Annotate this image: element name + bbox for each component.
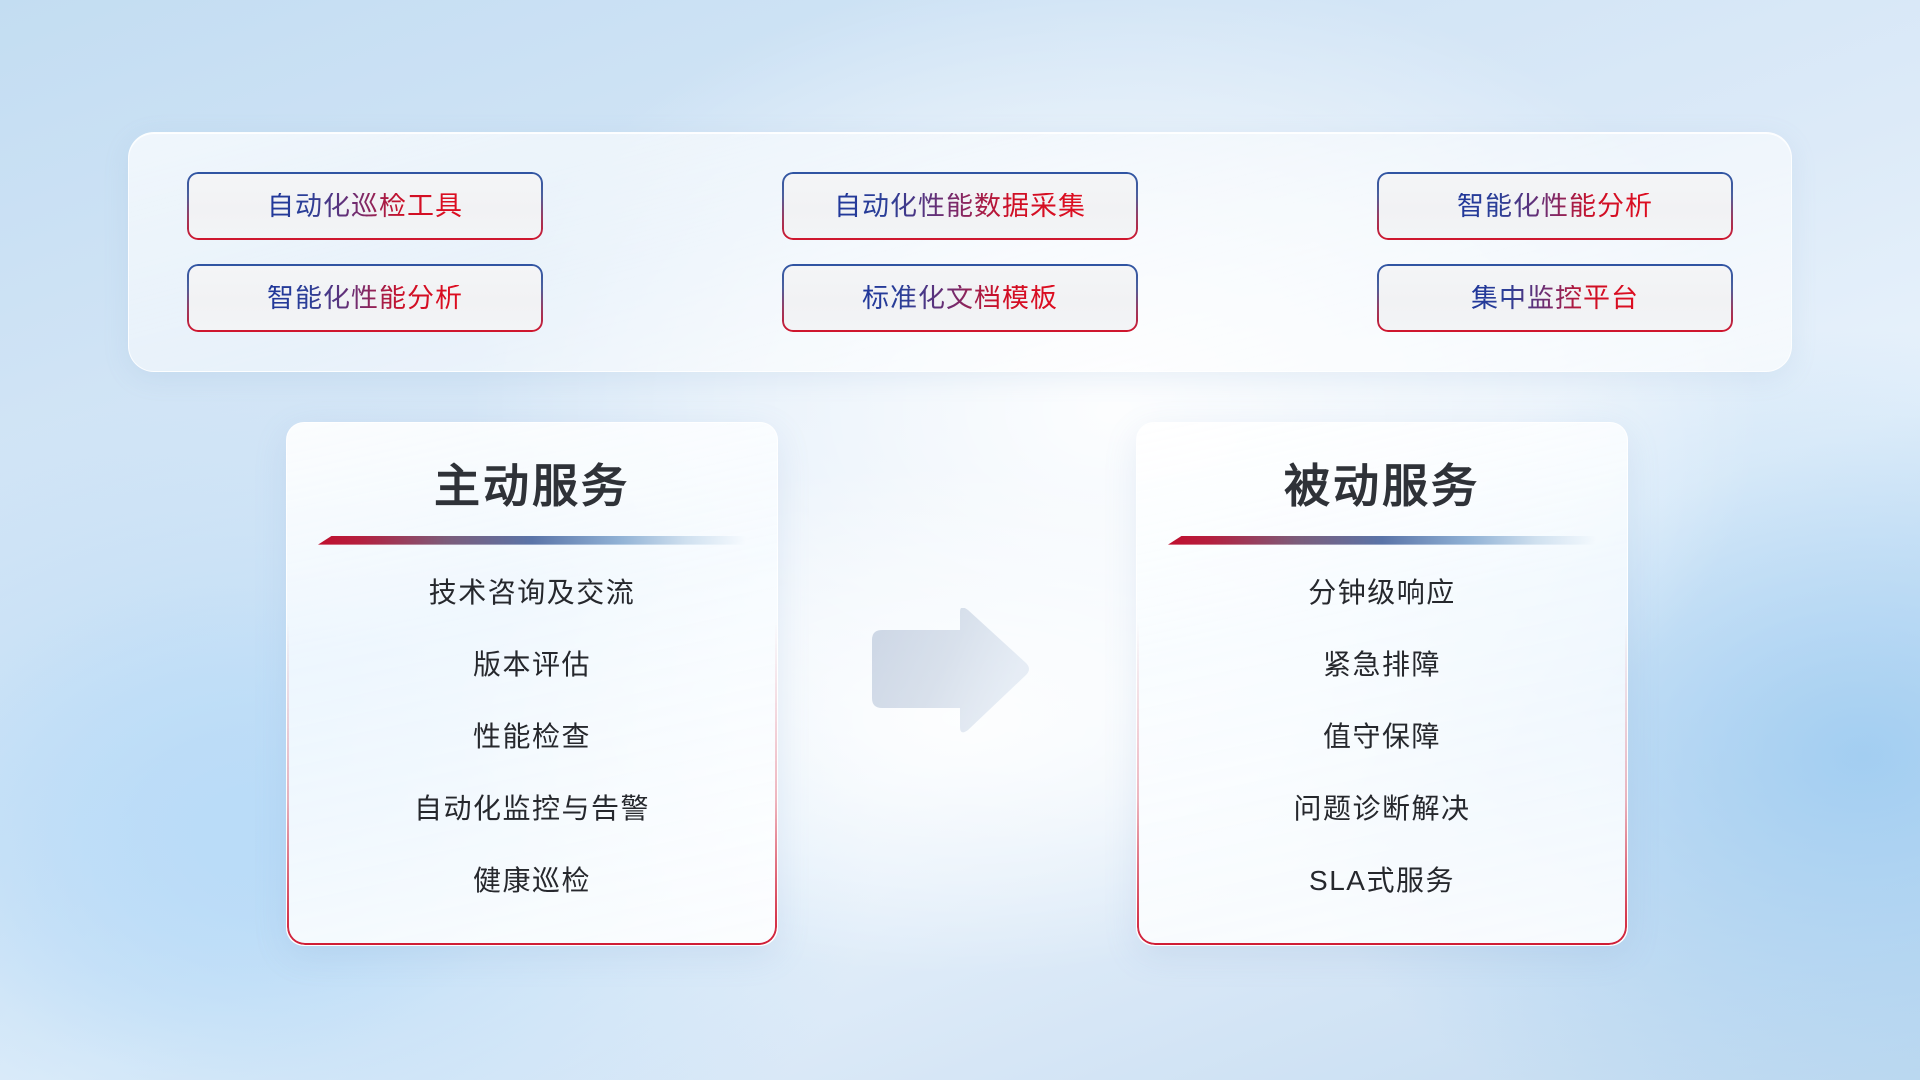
list-item: 健康巡检	[287, 867, 777, 895]
capability-pill-label: 集中监控平台	[1471, 285, 1639, 312]
divider-gradient-bar	[318, 536, 746, 545]
capability-pill-label: 智能化性能分析	[1457, 193, 1653, 220]
passive-service-card: 被动服务 分钟级响应 紧急排障 值守保障 问题诊断解决 SLA式服务	[1136, 422, 1628, 946]
list-item: 值守保障	[1137, 723, 1627, 751]
list-item: 问题诊断解决	[1137, 795, 1627, 823]
passive-service-list: 分钟级响应 紧急排障 值守保障 问题诊断解决 SLA式服务	[1137, 579, 1627, 895]
arrow-right-icon	[862, 608, 1032, 734]
capabilities-row-2: 智能化性能分析 标准化文档模板 集中监控平台	[187, 264, 1733, 332]
capability-pill-standardized-document-template[interactable]: 标准化文档模板	[782, 264, 1138, 332]
capability-pill-label: 标准化文档模板	[862, 285, 1058, 312]
capability-pill-label: 自动化性能数据采集	[834, 193, 1086, 220]
list-item: 技术咨询及交流	[287, 579, 777, 607]
list-item: SLA式服务	[1137, 867, 1627, 895]
capability-pill-automated-performance-data-collection[interactable]: 自动化性能数据采集	[782, 172, 1138, 240]
capability-pill-centralized-monitoring-platform[interactable]: 集中监控平台	[1377, 264, 1733, 332]
active-service-title: 主动服务	[287, 461, 777, 512]
passive-service-divider	[1168, 536, 1596, 545]
slide-canvas: 自动化巡检工具 自动化性能数据采集 智能化性能分析 智能化性能分析 标准化文档模…	[0, 0, 1920, 1080]
capability-pill-intelligent-performance-analysis-bottom[interactable]: 智能化性能分析	[187, 264, 543, 332]
capabilities-panel: 自动化巡检工具 自动化性能数据采集 智能化性能分析 智能化性能分析 标准化文档模…	[128, 132, 1792, 372]
capability-pill-label: 自动化巡检工具	[267, 193, 463, 220]
capability-pill-intelligent-performance-analysis-top[interactable]: 智能化性能分析	[1377, 172, 1733, 240]
list-item: 版本评估	[287, 651, 777, 679]
passive-service-title: 被动服务	[1137, 461, 1627, 512]
divider-gradient-bar	[1168, 536, 1596, 545]
list-item: 分钟级响应	[1137, 579, 1627, 607]
capabilities-row-1: 自动化巡检工具 自动化性能数据采集 智能化性能分析	[187, 172, 1733, 240]
capability-pill-automated-inspection-tool[interactable]: 自动化巡检工具	[187, 172, 543, 240]
capability-pill-label: 智能化性能分析	[267, 285, 463, 312]
active-service-divider	[318, 536, 746, 545]
list-item: 性能检查	[287, 723, 777, 751]
list-item: 紧急排障	[1137, 651, 1627, 679]
active-service-card: 主动服务 技术咨询及交流 版本评估 性能检查 自动化监控与告警 健康巡检	[286, 422, 778, 946]
active-service-list: 技术咨询及交流 版本评估 性能检查 自动化监控与告警 健康巡检	[287, 579, 777, 895]
list-item: 自动化监控与告警	[287, 795, 777, 823]
